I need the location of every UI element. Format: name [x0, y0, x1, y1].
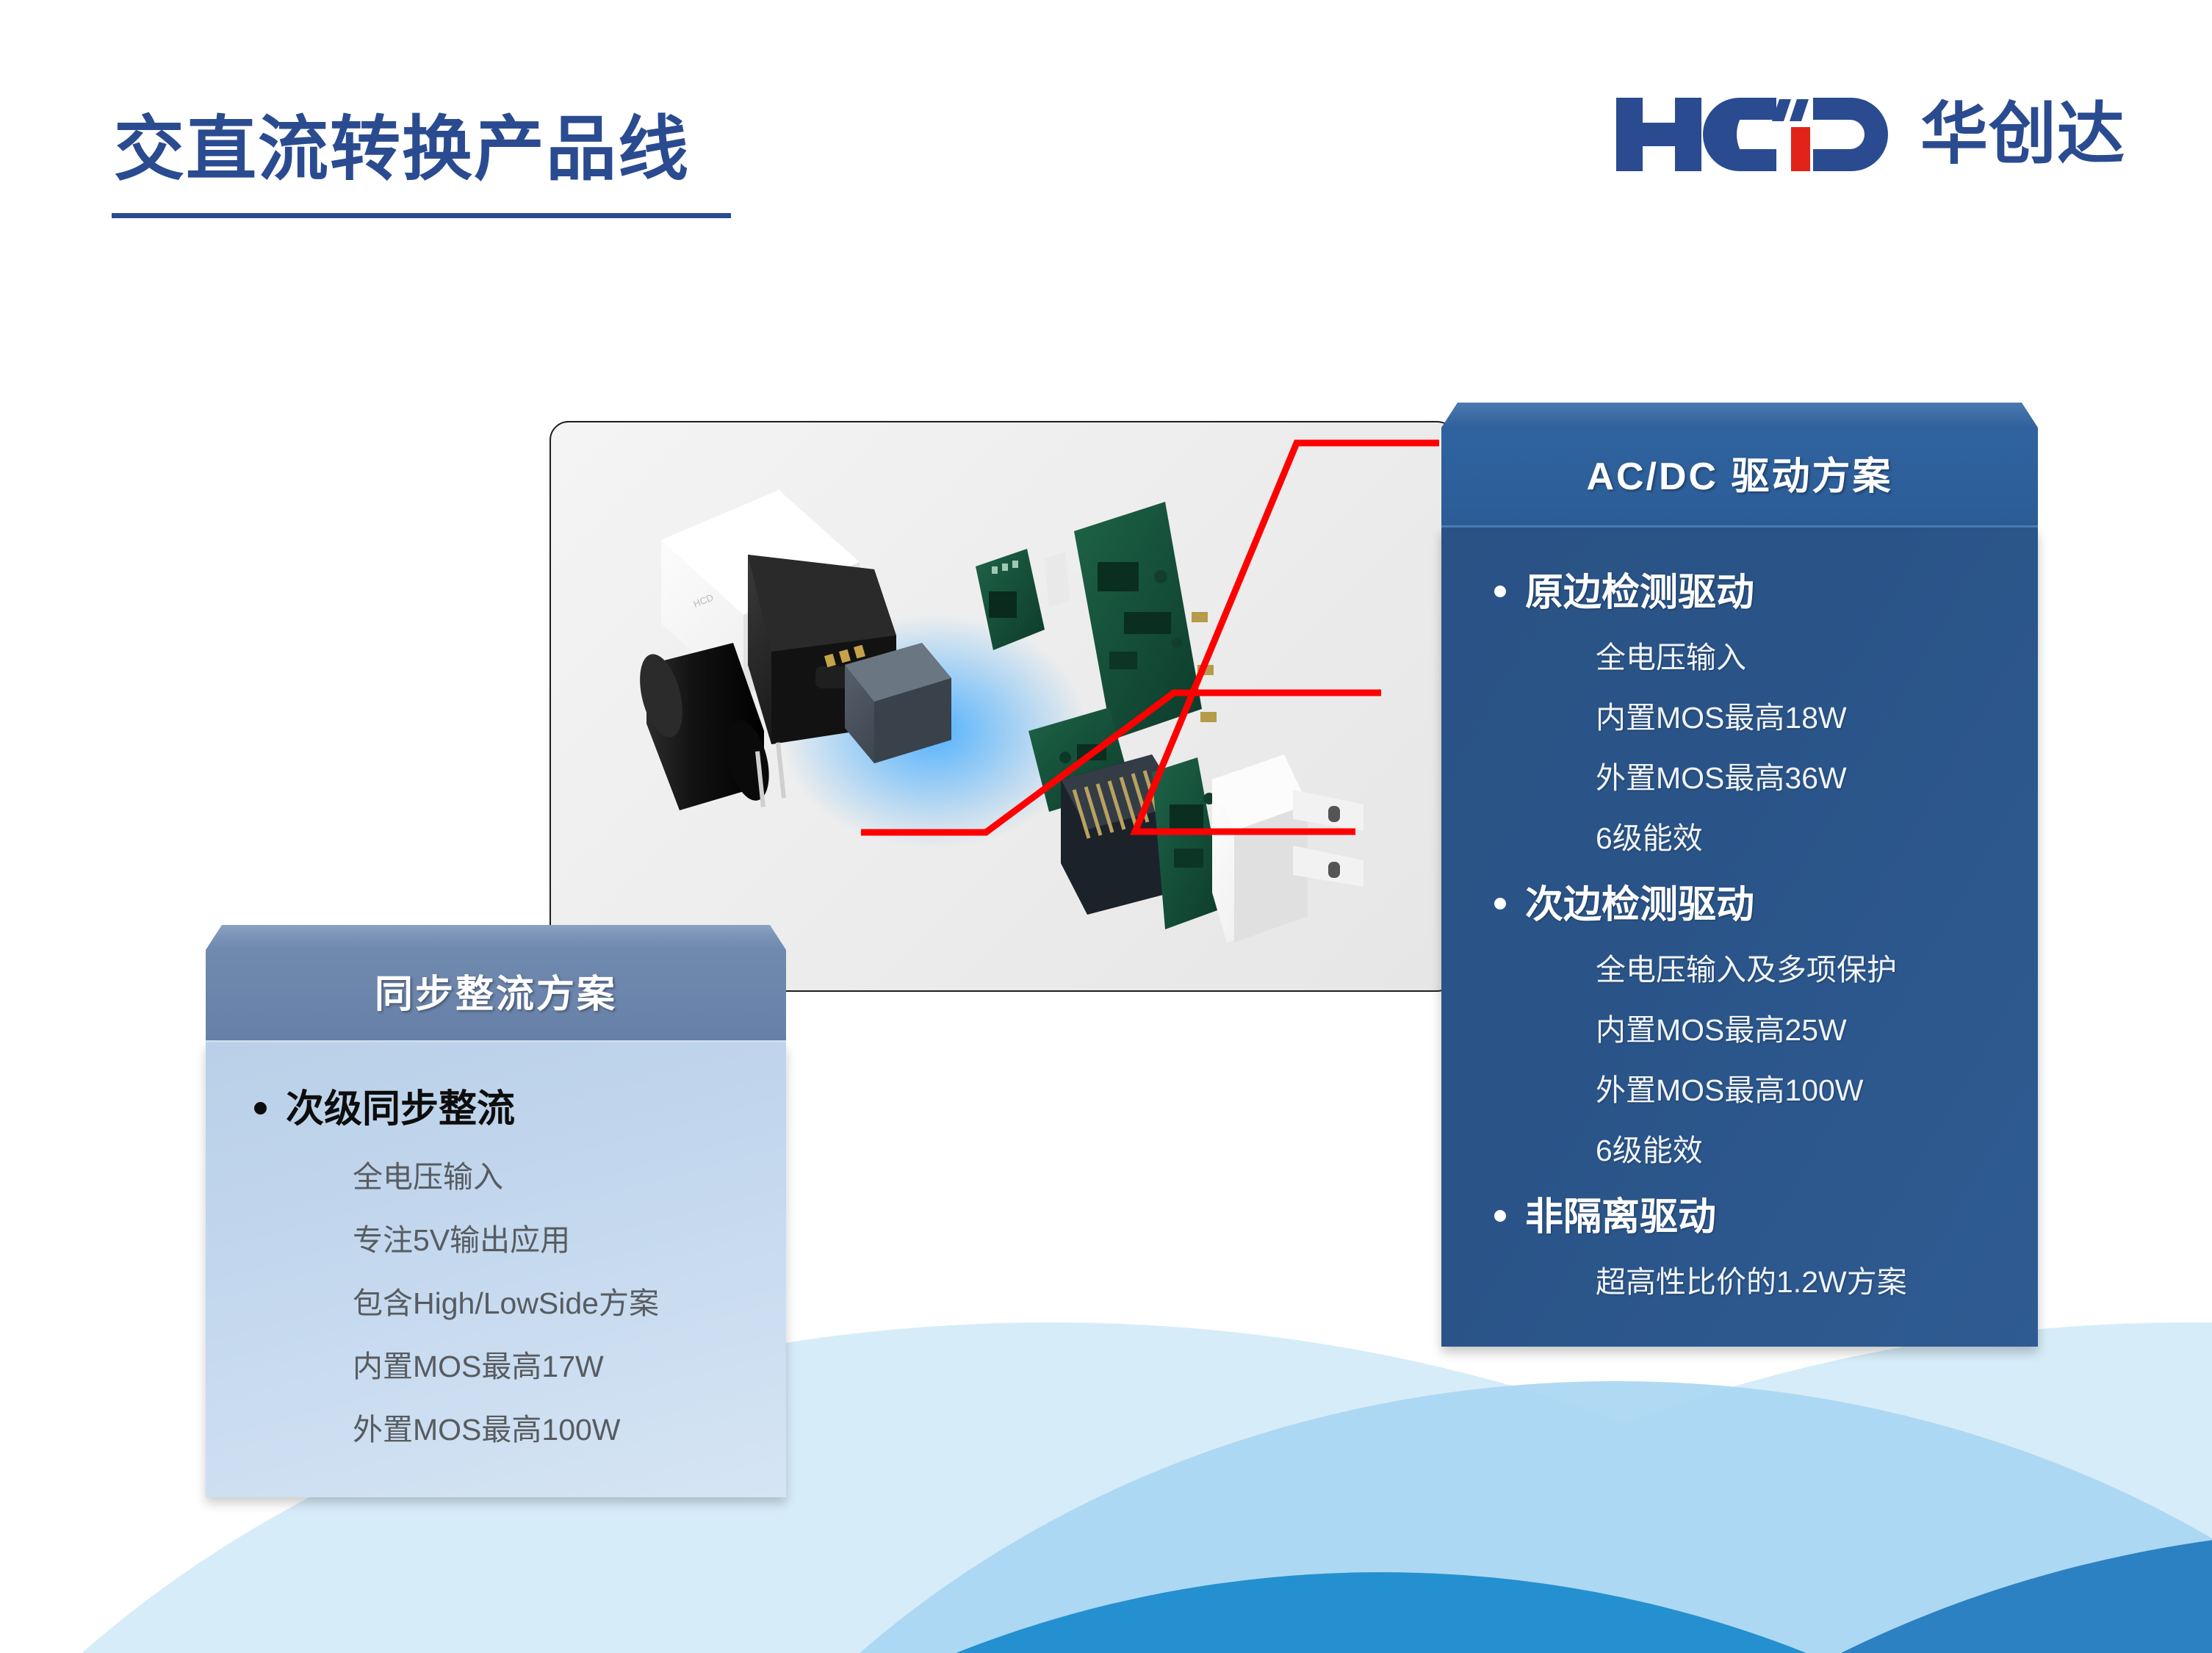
main-pcb-green — [1074, 502, 1217, 740]
bullet-heading-label: 次级同步整流 — [286, 1088, 515, 1131]
bullet-heading-label: 次边检测驱动 — [1525, 884, 1754, 926]
title-underline-rule — [112, 212, 731, 218]
hcd-logo-mark — [1616, 93, 1895, 176]
exploded-charger-illustration: HCD — [551, 422, 1455, 990]
bullet-dot-icon — [1494, 586, 1506, 597]
product-image-frame: HCD — [550, 421, 1456, 992]
panel-acdc-body: 原边检测驱动 全电压输入 内置MOS最高18W 外置MOS最高36W 6级能效 … — [1441, 527, 2038, 1347]
sub-item: 包含High/LowSide方案 — [206, 1278, 786, 1322]
sub-item: 专注5V输出应用 — [206, 1215, 786, 1259]
logo-wordmark: 华创达 — [1920, 101, 2125, 168]
panel-sync-body: 次级同步整流 全电压输入 专注5V输出应用 包含High/LowSide方案 内… — [206, 1042, 786, 1497]
white-ac-plug-prongs — [1212, 755, 1363, 943]
bullet-heading-label: 原边检测驱动 — [1525, 572, 1754, 614]
sub-item: 内置MOS最高18W — [1441, 693, 2038, 737]
sub-item: 全电压输入及多项保护 — [1441, 945, 2038, 989]
panel-sync-rectifier[interactable]: 同步整流方案 次级同步整流 全电压输入 专注5V输出应用 包含High/LowS… — [206, 925, 786, 1497]
sub-item: 6级能效 — [1441, 1126, 2038, 1170]
sub-item: 内置MOS最高25W — [1441, 1005, 2038, 1049]
slide-canvas: 交直流转换产品线 华创达 — [0, 0, 2212, 1653]
sub-item: 外置MOS最高36W — [1441, 753, 2038, 797]
company-logo: 华创达 — [1616, 94, 2125, 175]
sub-item: 外置MOS最高100W — [206, 1405, 786, 1449]
panel-sync-title: 同步整流方案 — [206, 950, 786, 1042]
panel-acdc-title: AC/DC 驱动方案 — [1441, 428, 2038, 527]
sub-item: 6级能效 — [1441, 813, 2038, 857]
panel-acdc-bevel — [1441, 403, 2038, 428]
bullet-heading[interactable]: 原边检测驱动 — [1441, 561, 2038, 616]
sub-item: 外置MOS最高100W — [1441, 1065, 2038, 1109]
bullet-heading[interactable]: 次边检测驱动 — [1441, 874, 2038, 929]
sub-item: 全电压输入 — [206, 1152, 786, 1196]
sub-item: 内置MOS最高17W — [206, 1342, 786, 1386]
usb-connector-tab — [1045, 552, 1070, 608]
sub-item: 超高性比价的1.2W方案 — [1441, 1257, 2038, 1301]
bullet-dot-icon — [1494, 1210, 1506, 1222]
panel-sync-bevel — [206, 925, 786, 950]
bullet-heading[interactable]: 次级同步整流 — [206, 1078, 786, 1133]
page-title: 交直流转换产品线 — [114, 92, 690, 194]
bullet-dot-icon — [1494, 898, 1506, 910]
bullet-heading[interactable]: 非隔离驱动 — [1441, 1186, 2038, 1241]
panel-acdc[interactable]: AC/DC 驱动方案 原边检测驱动 全电压输入 内置MOS最高18W 外置MOS… — [1441, 403, 2038, 1347]
sub-item: 全电压输入 — [1441, 633, 2038, 677]
bullet-dot-icon — [254, 1102, 267, 1114]
bullet-heading-label: 非隔离驱动 — [1525, 1196, 1716, 1239]
